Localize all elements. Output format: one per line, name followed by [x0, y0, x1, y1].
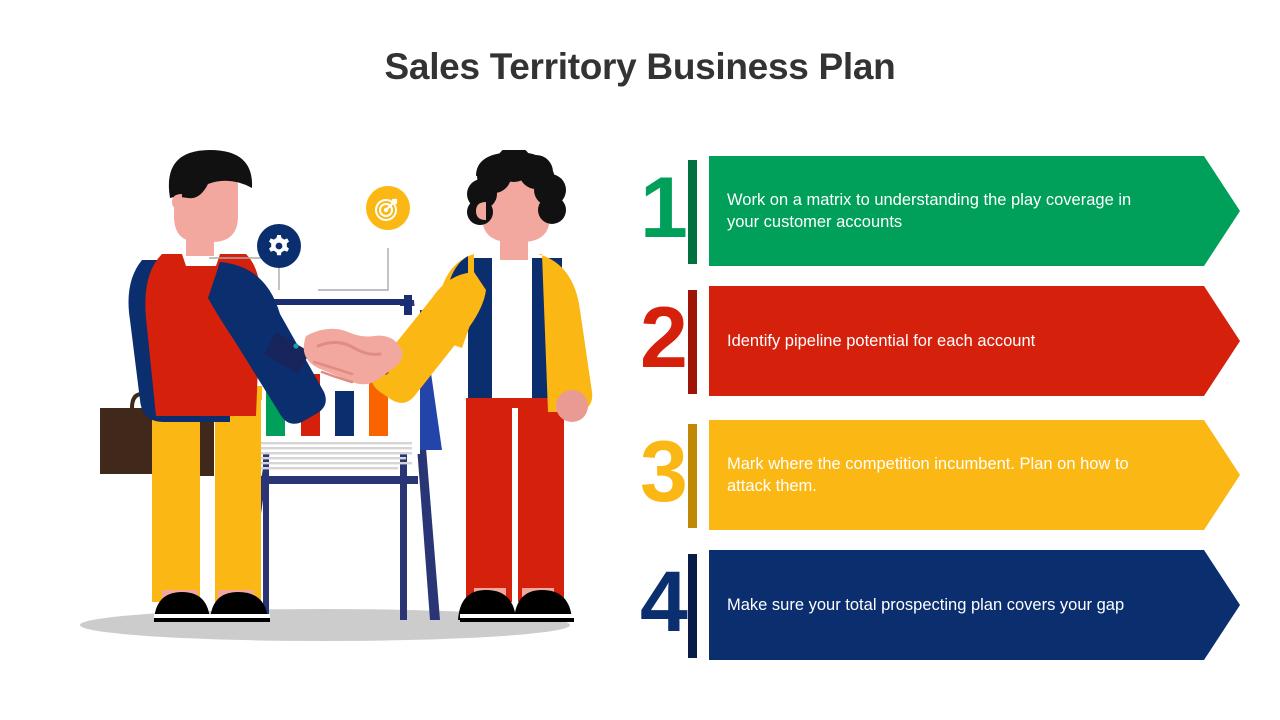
person-left [100, 150, 326, 622]
step-text-1: Work on a matrix to understanding the pl… [709, 189, 1191, 233]
step-number-3: 3 [640, 420, 680, 530]
target-icon [376, 200, 396, 220]
step-banner-4[interactable]: Make sure your total prospecting plan co… [709, 550, 1240, 660]
flipchart-tray [246, 476, 418, 484]
step-item-2[interactable]: 2 Identify pipeline potential for each a… [640, 286, 1240, 396]
step-text-3: Mark where the competition incumbent. Pl… [709, 453, 1191, 497]
step-divider-4 [688, 554, 697, 658]
steps-list: 1 Work on a matrix to understanding the … [640, 150, 1240, 680]
step-item-1[interactable]: 1 Work on a matrix to understanding the … [640, 156, 1240, 266]
step-text-2: Identify pipeline potential for each acc… [709, 330, 1069, 352]
step-banner-1[interactable]: Work on a matrix to understanding the pl… [709, 156, 1240, 266]
step-number-4: 4 [640, 550, 680, 660]
step-item-4[interactable]: 4 Make sure your total prospecting plan … [640, 550, 1240, 660]
hand-right-person [556, 390, 588, 422]
target-callout [318, 186, 410, 290]
step-banner-3[interactable]: Mark where the competition incumbent. Pl… [709, 420, 1240, 530]
step-banner-2[interactable]: Identify pipeline potential for each acc… [709, 286, 1240, 396]
step-number-1: 1 [640, 156, 680, 266]
step-text-4: Make sure your total prospecting plan co… [709, 594, 1158, 616]
step-divider-3 [688, 424, 697, 528]
step-number-2: 2 [640, 286, 680, 396]
page-title: Sales Territory Business Plan [0, 46, 1280, 88]
step-item-3[interactable]: 3 Mark where the competition incumbent. … [640, 420, 1240, 530]
target-connector-line [318, 248, 388, 290]
handshake-illustration [70, 150, 610, 670]
step-divider-1 [688, 160, 697, 264]
step-divider-2 [688, 290, 697, 394]
